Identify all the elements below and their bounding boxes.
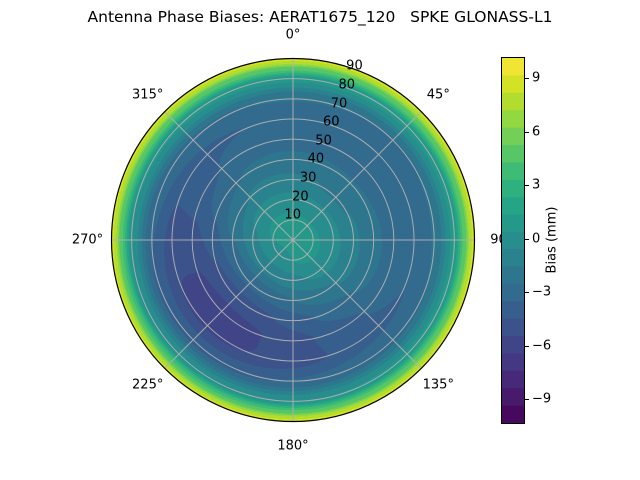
colorbar-tick-mark-0 — [525, 399, 529, 400]
radial-tick-label-80: 80 — [338, 77, 355, 92]
polar-contour-plot — [110, 57, 476, 423]
colorbar-tick-mark-1 — [525, 346, 529, 347]
colorbar-tick-label-5: 6 — [532, 124, 540, 139]
colorbar-tick-label-2: −3 — [532, 285, 551, 300]
colorbar-gradient — [501, 57, 525, 424]
colorbar-tick-label-0: −9 — [532, 392, 551, 407]
radial-tick-label-50: 50 — [315, 133, 332, 148]
colorbar-label: Bias (mm) — [545, 207, 560, 274]
theta-tick-label-270: 270° — [72, 233, 103, 248]
colorbar-tick-label-1: −6 — [532, 338, 551, 353]
colorbar-tick-mark-4 — [525, 185, 529, 186]
radial-tick-label-70: 70 — [331, 96, 348, 111]
polar-axes: 0°45°90135°180°225°270°315° 102030405060… — [110, 57, 476, 423]
theta-tick-label-225: 225° — [132, 378, 163, 393]
theta-tick-label-315: 315° — [132, 87, 163, 102]
theta-tick-label-45: 45° — [427, 87, 450, 102]
theta-tick-label-180: 180° — [277, 438, 308, 453]
theta-tick-label-0: 0° — [286, 27, 301, 42]
theta-tick-label-135: 135° — [423, 378, 454, 393]
page-title: Antenna Phase Biases: AERAT1675_120 SPKE… — [0, 8, 640, 26]
radial-tick-label-60: 60 — [323, 115, 340, 130]
radial-tick-label-40: 40 — [308, 152, 325, 167]
colorbar-tick-label-3: 0 — [532, 231, 540, 246]
figure-canvas: Antenna Phase Biases: AERAT1675_120 SPKE… — [0, 0, 640, 480]
colorbar-tick-label-6: 9 — [532, 71, 540, 86]
colorbar-tick-label-4: 3 — [532, 178, 540, 193]
radial-tick-label-20: 20 — [292, 189, 309, 204]
radial-tick-label-30: 30 — [300, 171, 317, 186]
colorbar-tick-mark-5 — [525, 132, 529, 133]
radial-tick-label-90: 90 — [346, 59, 363, 74]
colorbar-tick-mark-6 — [525, 78, 529, 79]
colorbar-tick-mark-3 — [525, 239, 529, 240]
radial-tick-label-10: 10 — [284, 208, 301, 223]
colorbar: −9−6−30369 — [501, 57, 525, 424]
colorbar-tick-mark-2 — [525, 292, 529, 293]
